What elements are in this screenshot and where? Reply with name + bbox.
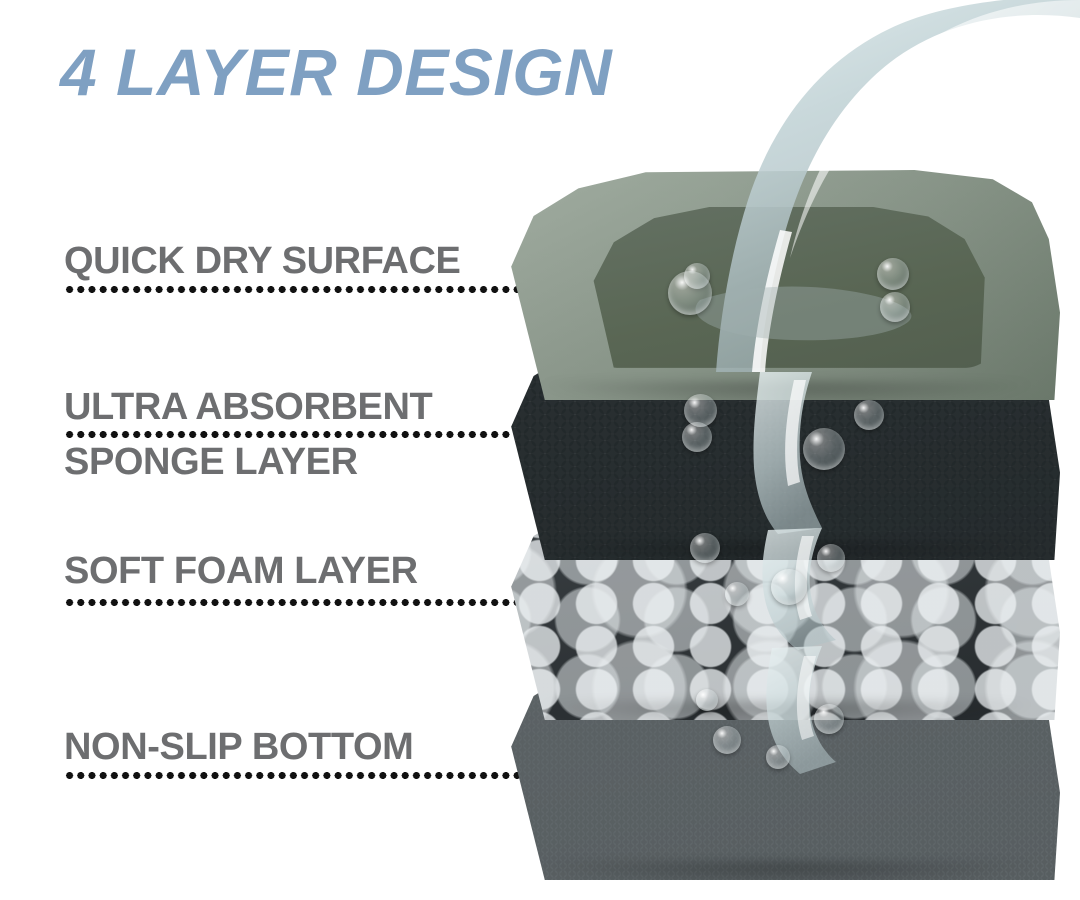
leader-line-non-slip-bottom [64, 772, 564, 779]
quick-dry-surface-layer [500, 170, 1060, 400]
water-bead [880, 292, 910, 322]
water-bead [696, 689, 718, 711]
callout-label-sponge-layer: SPONGE LAYER [64, 443, 358, 481]
leader-line-quick-dry-surface [64, 286, 564, 293]
water-bead [682, 422, 712, 452]
leader-line-ultra-absorbent-sponge-layer [64, 431, 564, 438]
water-bead [814, 704, 844, 734]
callout-label-soft-foam-layer: SOFT FOAM LAYER [64, 552, 418, 590]
water-bead [713, 726, 741, 754]
page-title: 4 LAYER DESIGN [60, 38, 612, 107]
water-bead [771, 569, 807, 605]
water-bead [817, 544, 845, 572]
callout-label-non-slip-bottom: NON-SLIP BOTTOM [64, 728, 413, 766]
quick-dry-surface-inner-panel [590, 207, 993, 368]
leader-line-soft-foam-layer [64, 599, 559, 606]
water-bead [803, 428, 845, 470]
water-bead [877, 258, 909, 290]
exploded-layer-stack [500, 150, 1080, 880]
water-bead [668, 271, 712, 315]
callout-label-ultra-absorbent: ULTRA ABSORBENT [64, 388, 432, 426]
callout-label-quick-dry-surface: QUICK DRY SURFACE [64, 242, 460, 280]
four-layer-design-poster: 4 LAYER DESIGN QUICK DRY SURFACE ULTRA A… [0, 0, 1080, 900]
water-bead [766, 745, 790, 769]
water-bead [690, 533, 720, 563]
water-bead [854, 400, 884, 430]
quick-dry-surface-slab [500, 170, 1060, 400]
water-bead [725, 582, 749, 606]
